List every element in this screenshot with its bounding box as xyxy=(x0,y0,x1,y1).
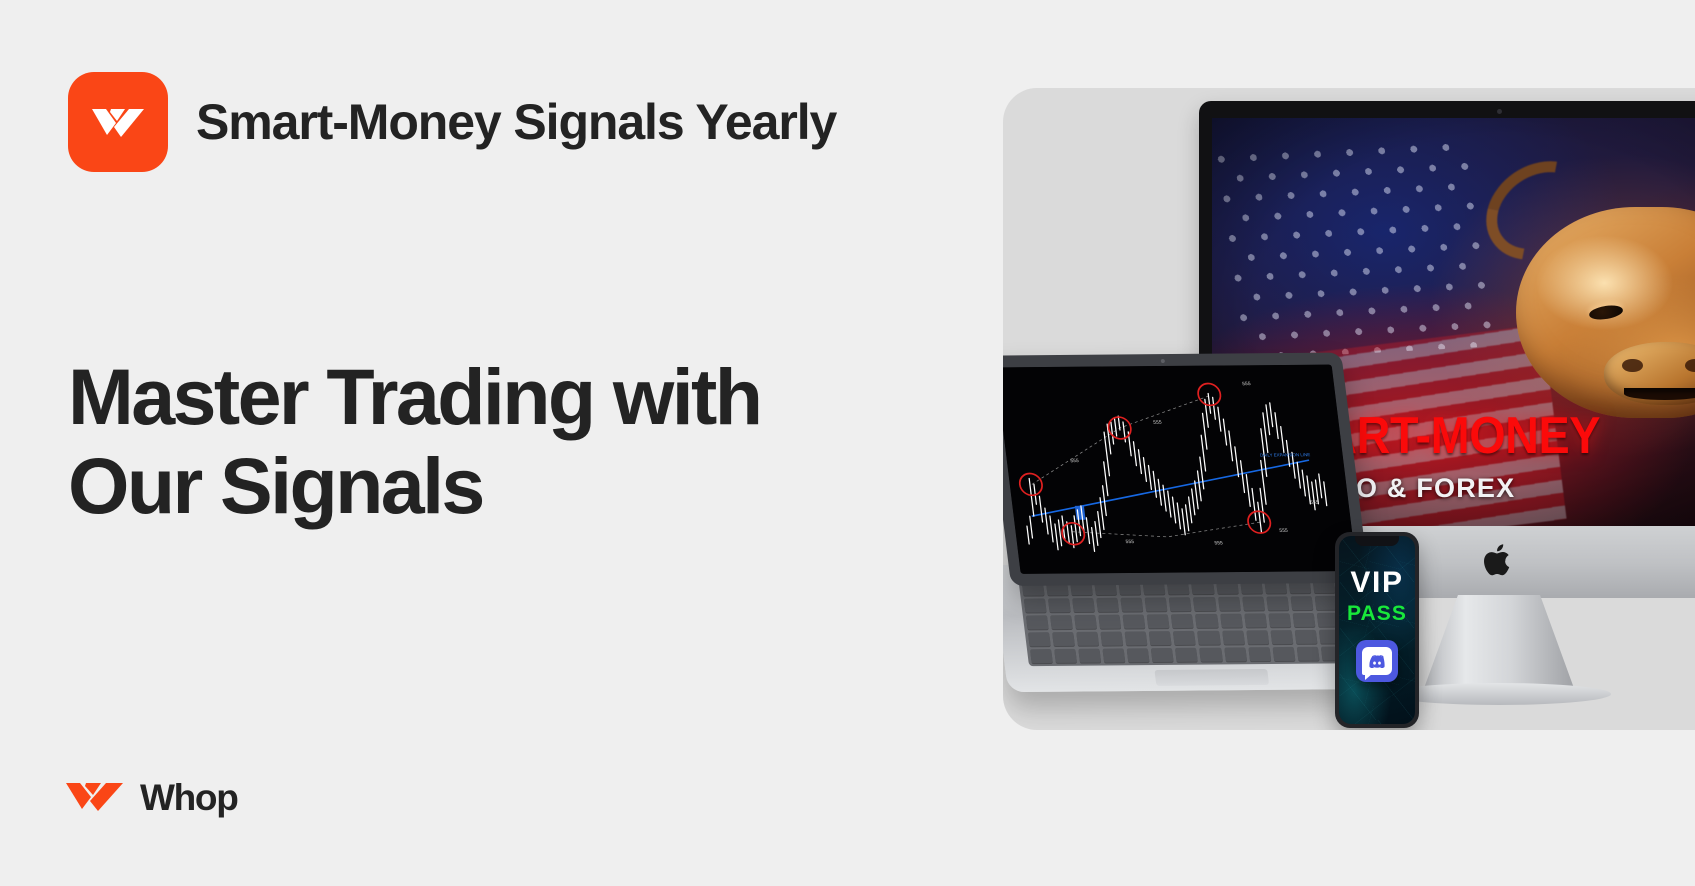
iphone-screen: VIP PASS xyxy=(1339,536,1415,724)
iphone-notch xyxy=(1355,536,1399,546)
headline-line-2: Our Signals xyxy=(68,441,868,530)
svg-text:555: 555 xyxy=(1310,500,1319,506)
svg-text:555: 555 xyxy=(1070,458,1079,464)
pass-label: PASS xyxy=(1347,603,1407,624)
footer-brand: Whop xyxy=(66,778,238,817)
macbook-keyboard xyxy=(1018,576,1371,666)
vip-label: VIP xyxy=(1350,568,1403,598)
svg-text:555: 555 xyxy=(1242,381,1251,387)
svg-text:555: 555 xyxy=(1153,420,1162,426)
brand-header: Smart-Money Signals Yearly xyxy=(68,72,836,172)
imac-camera-icon xyxy=(1497,109,1502,114)
network-pattern-backdrop xyxy=(1339,536,1415,724)
page-title: Smart-Money Signals Yearly xyxy=(196,96,836,149)
iphone-device: VIP PASS xyxy=(1335,532,1419,728)
whop-logo-icon xyxy=(68,72,168,172)
footer-wordmark: Whop xyxy=(140,779,238,816)
macbook-camera-icon xyxy=(1161,359,1166,363)
keyboard-row xyxy=(1028,629,1366,646)
svg-text:DAILY EXPANSION LINE: DAILY EXPANSION LINE xyxy=(1260,452,1311,457)
hero-headline: Master Trading with Our Signals xyxy=(68,352,868,531)
svg-text:555: 555 xyxy=(1214,540,1223,546)
headline-line-1: Master Trading with xyxy=(68,352,760,441)
imac-stand-neck xyxy=(1423,595,1575,691)
macbook-screen: 555 555 555 555 555 555 555 DAILY EXPANS… xyxy=(1003,365,1357,574)
keyboard-row xyxy=(1024,596,1362,613)
keyboard-row xyxy=(1030,646,1368,663)
trading-chart: 555 555 555 555 555 555 555 DAILY EXPANS… xyxy=(1003,365,1357,574)
apple-logo-icon xyxy=(1484,542,1514,583)
discord-icon xyxy=(1356,640,1398,682)
product-artwork-panel: SMART-MONEY CRYPTO & FOREX xyxy=(1003,88,1695,730)
keyboard-row xyxy=(1026,613,1364,630)
macbook-lid: 555 555 555 555 555 555 555 DAILY EXPANS… xyxy=(1003,353,1369,586)
svg-text:555: 555 xyxy=(1279,528,1288,534)
macbook-trackpad xyxy=(1154,669,1269,686)
promo-banner: Smart-Money Signals Yearly Master Tradin… xyxy=(0,0,1695,886)
whop-mark-icon xyxy=(66,778,124,817)
discord-bubble xyxy=(1362,647,1392,675)
svg-text:555: 555 xyxy=(1125,539,1134,545)
